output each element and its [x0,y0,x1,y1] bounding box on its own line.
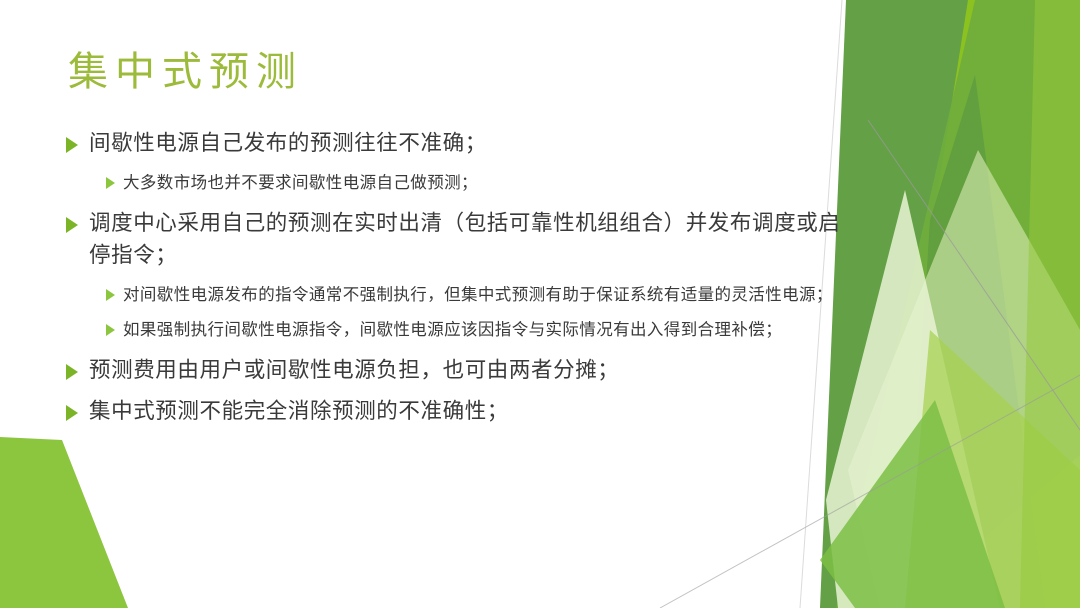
triangle-right-icon [66,405,78,421]
bullet-item: 预测费用由用户或间歇性电源负担，也可由两者分摊； [66,355,856,387]
deco-shape-pale-sheet [848,150,1080,608]
triangle-right-icon [66,364,78,380]
triangle-right-icon [66,217,78,233]
spacer [66,345,856,355]
sub-bullet-text: 大多数市场也并不要求间歇性电源自己做预测； [123,169,856,196]
bullet-item: 集中式预测不能完全消除预测的不准确性； [66,396,856,428]
slide-title: 集中式预测 [68,50,303,94]
sub-bullet-text: 对间歇性电源发布的指令通常不强制执行，但集中式预测有助于保证系统有适量的灵活性电… [123,281,856,308]
triangle-right-icon [66,137,78,153]
deco-shape-right-accent-strip [1020,0,1080,608]
bullet-text: 调度中心采用自己的预测在实时出清（包括可靠性机组组合）并发布调度或启停指令； [89,208,856,272]
sub-bullet-item: 对间歇性电源发布的指令通常不强制执行，但集中式预测有助于保证系统有适量的灵活性电… [106,281,856,308]
deco-shape-inner-dark-triangle [905,75,1045,608]
spacer [66,198,856,208]
bullet-item: 间歇性电源自己发布的预测往往不准确； [66,128,856,160]
deco-shape-dark-green-band [820,0,1080,608]
sub-bullet-item: 如果强制执行间歇性电源指令，间歇性电源应该因指令与实际情况有出入得到合理补偿； [106,316,856,343]
deco-shape-mid-green-triangle [836,0,1080,608]
slide-body: 间歇性电源自己发布的预测往往不准确； 大多数市场也并不要求间歇性电源自己做预测；… [66,128,856,431]
bullet-text: 集中式预测不能完全消除预测的不准确性； [89,396,856,428]
deco-line-diagonal-upper [868,120,1080,430]
sub-bullet-item: 大多数市场也并不要求间歇性电源自己做预测； [106,169,856,196]
presentation-slide: 集中式预测 间歇性电源自己发布的预测往往不准确； 大多数市场也并不要求间歇性电源… [0,0,1080,608]
bullet-text: 预测费用由用户或间歇性电源负担，也可由两者分摊； [89,355,856,387]
deco-shape-light-green-overlay [905,330,1080,608]
bullet-text: 间歇性电源自己发布的预测往往不准确； [89,128,856,160]
sub-bullet-text: 如果强制执行间歇性电源指令，间歇性电源应该因指令与实际情况有出入得到合理补偿； [123,316,856,343]
bullet-item: 调度中心采用自己的预测在实时出清（包括可靠性机组组合）并发布调度或启停指令； [66,208,856,272]
deco-shape-bottom-left-wedge [0,437,128,608]
deco-shape-bright-green-right [872,0,1080,608]
triangle-right-icon [106,324,115,336]
deco-shape-lower-left-band [820,400,1005,608]
triangle-right-icon [106,177,115,189]
triangle-right-icon [106,289,115,301]
